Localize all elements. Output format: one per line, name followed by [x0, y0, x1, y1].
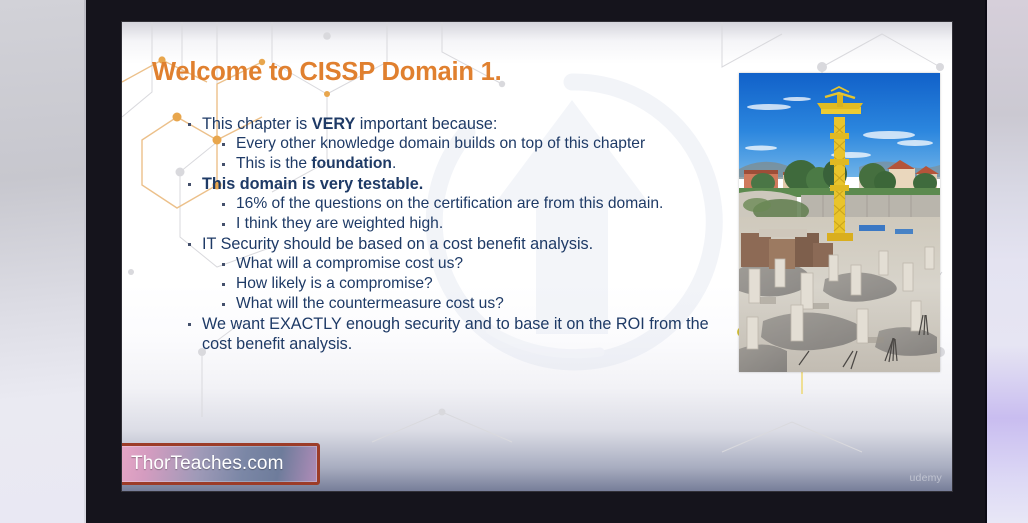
- bullet-text: What will the countermeasure cost us?: [236, 295, 504, 312]
- bullet-item: How likely is a compromise?: [174, 274, 764, 294]
- bullet-dot-icon: [222, 163, 225, 166]
- bullet-text: What will a compromise cost us?: [236, 255, 463, 272]
- bullet-text: 16% of the questions on the certificatio…: [236, 195, 663, 212]
- bullet-dot-icon: [222, 263, 225, 266]
- bullet-dot-icon: [222, 143, 225, 146]
- bullet-text: This domain is very testable.: [202, 175, 423, 193]
- desktop-background-left: [0, 0, 86, 523]
- bullet-item: IT Security should be based on a cost be…: [174, 234, 764, 254]
- bullet-text: How likely is a compromise?: [236, 275, 433, 292]
- bullet-item: This domain is very testable.: [174, 174, 764, 194]
- bullet-text: We want EXACTLY enough security and to b…: [202, 315, 709, 353]
- slide-bullet-list: This chapter is VERY important because:E…: [174, 114, 764, 354]
- bullet-dot-icon: [188, 123, 191, 126]
- brand-label: ThorTeaches.com: [122, 453, 284, 475]
- bullet-item: 16% of the questions on the certificatio…: [174, 194, 764, 214]
- bullet-dot-icon: [222, 303, 225, 306]
- bullet-dot-icon: [222, 223, 225, 226]
- bullet-dot-icon: [188, 183, 191, 186]
- video-player-viewport: Welcome to CISSP Domain 1. This chapter …: [0, 0, 1028, 523]
- bullet-item: What will the countermeasure cost us?: [174, 294, 764, 314]
- bullet-text: I think they are weighted high.: [236, 215, 443, 232]
- brand-plate[interactable]: ThorTeaches.com: [122, 443, 320, 485]
- udemy-watermark: udemy: [909, 472, 942, 484]
- bullet-item: This chapter is VERY important because:: [174, 114, 764, 134]
- construction-site-photo: [739, 73, 940, 372]
- bullet-item: I think they are weighted high.: [174, 214, 764, 234]
- bullet-text: Every other knowledge domain builds on t…: [236, 135, 645, 152]
- bullet-dot-icon: [188, 323, 191, 326]
- bullet-text: This chapter is VERY important because:: [202, 115, 497, 133]
- bullet-item: We want EXACTLY enough security and to b…: [174, 314, 732, 354]
- bullet-item: This is the foundation.: [174, 154, 764, 174]
- desktop-background-right: [985, 0, 1028, 523]
- presentation-slide: Welcome to CISSP Domain 1. This chapter …: [122, 22, 952, 491]
- bullet-item: Every other knowledge domain builds on t…: [174, 134, 764, 154]
- bullet-item: What will a compromise cost us?: [174, 254, 764, 274]
- bullet-dot-icon: [188, 243, 191, 246]
- photo-artwork: [739, 73, 940, 372]
- bullet-dot-icon: [222, 203, 225, 206]
- bullet-text: IT Security should be based on a cost be…: [202, 235, 593, 253]
- slide-title: Welcome to CISSP Domain 1.: [152, 58, 502, 87]
- bullet-text: This is the foundation.: [236, 155, 396, 172]
- bullet-dot-icon: [222, 283, 225, 286]
